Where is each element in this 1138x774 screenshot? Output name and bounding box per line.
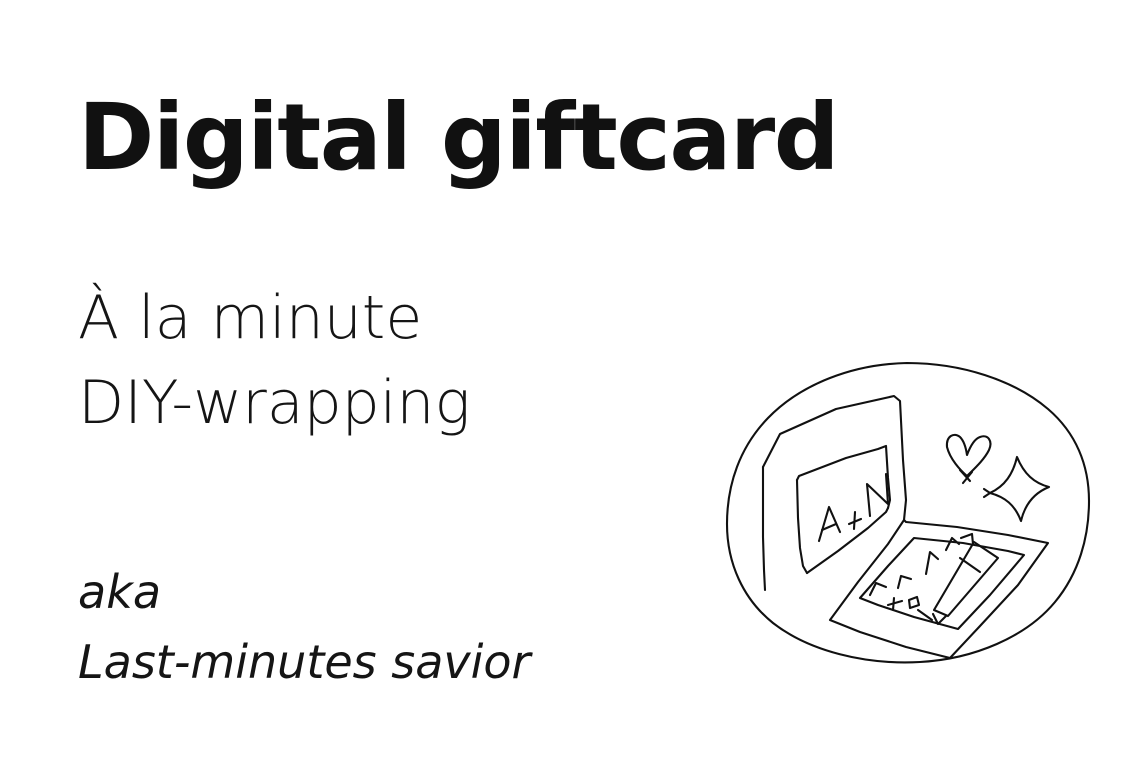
pen-icon (933, 542, 998, 624)
circle-outline-icon (727, 363, 1089, 662)
sparkle-doodle-icon (984, 457, 1049, 521)
subtitle-line-2: DIY-wrapping (78, 361, 470, 446)
heart-doodle-icon (947, 435, 990, 483)
laptop-keyboard-paper-icon (830, 520, 1048, 658)
aka-tagline: Last-minutes savior (78, 628, 530, 698)
laptop-screen-icon (763, 396, 906, 590)
aka-label: aka (78, 558, 530, 628)
page-title: Digital giftcard (78, 92, 838, 184)
aka-block: aka Last-minutes savior (78, 558, 530, 698)
slide-canvas: Digital giftcard À la minute DIY-wrappin… (0, 0, 1138, 774)
hand-drawn-laptop-giftcard-sketch (718, 352, 1096, 702)
text-column: Digital giftcard À la minute DIY-wrappin… (78, 0, 698, 774)
subtitle-line-1: À la minute (78, 276, 470, 361)
subtitle-block: À la minute DIY-wrapping (78, 276, 470, 446)
